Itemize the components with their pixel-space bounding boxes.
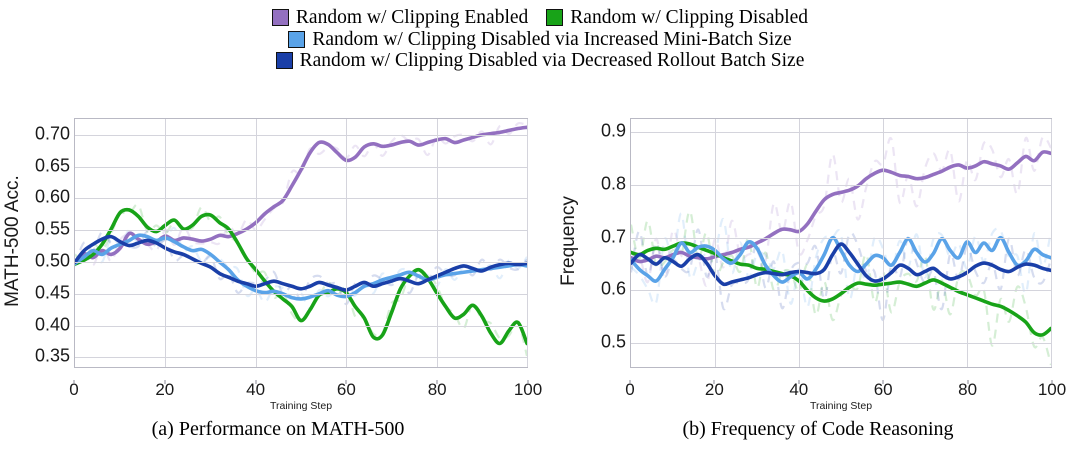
legend-swatch-clip-enabled bbox=[272, 9, 289, 26]
series-line-a-clip_disabled_rollout bbox=[75, 237, 527, 290]
x-tickmark-b-3 bbox=[883, 380, 884, 384]
gridline-x-b-3 bbox=[883, 119, 884, 367]
plot-lines-b bbox=[631, 119, 1051, 367]
y-tick-b-3: 0.8 bbox=[601, 173, 626, 194]
chart-panel-a: MATH-500 Acc. 0.350.400.450.500.550.600.… bbox=[0, 112, 556, 380]
caption-a: (a) Performance on MATH-500 bbox=[0, 418, 556, 441]
x-tickmark-b-1 bbox=[714, 380, 715, 384]
caption-b: (b) Frequency of Code Reasoning bbox=[556, 418, 1080, 441]
y-axis-label-a: MATH-500 Acc. bbox=[0, 112, 26, 370]
raw-trace-a-clip_disabled bbox=[75, 204, 527, 356]
gridline-y-a-3 bbox=[75, 262, 527, 263]
legend-entry-clip-enabled: Random w/ Clipping Enabled bbox=[272, 8, 528, 28]
y-axis-label-a-text: MATH-500 Acc. bbox=[2, 175, 24, 307]
raw-trace-b-clip_disabled bbox=[631, 211, 1051, 365]
gridline-y-b-0 bbox=[631, 343, 1051, 344]
legend-label-clip-enabled: Random w/ Clipping Enabled bbox=[296, 8, 528, 28]
y-tick-labels-b: 0.50.60.70.80.9 bbox=[582, 112, 630, 374]
legend-entry-clip-disabled-minibatch: Random w/ Clipping Disabled via Increase… bbox=[288, 30, 791, 50]
y-tick-b-4: 0.9 bbox=[601, 121, 626, 142]
gridline-y-a-6 bbox=[75, 167, 527, 168]
gridline-x-b-1 bbox=[715, 119, 716, 367]
y-tick-a-3: 0.50 bbox=[35, 251, 70, 272]
legend-entry-clip-disabled: Random w/ Clipping Disabled bbox=[546, 8, 808, 28]
y-tick-a-7: 0.70 bbox=[35, 123, 70, 144]
legend-row-3: Random w/ Clipping Disabled via Decrease… bbox=[276, 51, 805, 71]
legend-label-clip-disabled: Random w/ Clipping Disabled bbox=[570, 8, 808, 28]
gridline-x-b-5 bbox=[1051, 119, 1052, 367]
y-tick-b-0: 0.5 bbox=[601, 332, 626, 353]
legend-label-clip-disabled-minibatch: Random w/ Clipping Disabled via Increase… bbox=[312, 30, 791, 50]
x-axis-label-b: Training Step bbox=[630, 400, 1052, 412]
x-tickmark-a-5 bbox=[528, 380, 529, 384]
axes-b: 0.50.60.70.80.9 020406080100 Training St… bbox=[582, 112, 1052, 374]
x-tick-labels-b: 020406080100 bbox=[630, 380, 1052, 400]
x-tickmark-b-2 bbox=[798, 380, 799, 384]
y-axis-label-b: Frequency bbox=[556, 112, 582, 370]
x-tick-labels-a: 020406080100 bbox=[74, 380, 528, 400]
y-tick-a-2: 0.45 bbox=[35, 282, 70, 303]
gridline-x-a-1 bbox=[165, 119, 166, 367]
y-tick-labels-a: 0.350.400.450.500.550.600.650.70 bbox=[26, 112, 74, 374]
gridline-y-a-7 bbox=[75, 135, 527, 136]
legend-entry-clip-disabled-rollout: Random w/ Clipping Disabled via Decrease… bbox=[276, 51, 805, 71]
legend: Random w/ Clipping Enabled Random w/ Cli… bbox=[0, 8, 1080, 71]
y-tick-a-6: 0.65 bbox=[35, 155, 70, 176]
gridline-x-a-4 bbox=[437, 119, 438, 367]
gridline-x-a-3 bbox=[346, 119, 347, 367]
gridline-x-a-2 bbox=[256, 119, 257, 367]
gridline-y-a-4 bbox=[75, 230, 527, 231]
gridline-y-a-0 bbox=[75, 357, 527, 358]
gridline-x-a-5 bbox=[527, 119, 528, 367]
y-tick-a-1: 0.40 bbox=[35, 314, 70, 335]
x-axis-label-a: Training Step bbox=[74, 400, 528, 412]
gridline-y-b-4 bbox=[631, 132, 1051, 133]
legend-row-2: Random w/ Clipping Disabled via Increase… bbox=[288, 30, 791, 50]
legend-row-1: Random w/ Clipping Enabled Random w/ Cli… bbox=[272, 8, 808, 28]
chart-panel-b: Frequency 0.50.60.70.80.9 020406080100 T… bbox=[556, 112, 1080, 380]
plot-frame-b bbox=[630, 118, 1052, 368]
gridline-y-a-1 bbox=[75, 326, 527, 327]
x-tickmark-b-5 bbox=[1052, 380, 1053, 384]
legend-swatch-clip-disabled-minibatch bbox=[288, 31, 305, 48]
x-tickmark-a-3 bbox=[346, 380, 347, 384]
plot-lines-a bbox=[75, 119, 527, 367]
plot-area-a: MATH-500 Acc. 0.350.400.450.500.550.600.… bbox=[0, 112, 556, 380]
legend-label-clip-disabled-rollout: Random w/ Clipping Disabled via Decrease… bbox=[300, 51, 805, 71]
gridline-y-b-1 bbox=[631, 290, 1051, 291]
y-tick-a-5: 0.60 bbox=[35, 187, 70, 208]
gridline-x-b-2 bbox=[799, 119, 800, 367]
axes-a: 0.350.400.450.500.550.600.650.70 0204060… bbox=[26, 112, 528, 374]
gridline-y-a-2 bbox=[75, 294, 527, 295]
gridline-y-b-3 bbox=[631, 185, 1051, 186]
x-tickmark-b-0 bbox=[630, 380, 631, 384]
legend-swatch-clip-disabled-rollout bbox=[276, 52, 293, 69]
gridline-x-b-4 bbox=[967, 119, 968, 367]
x-tickmark-a-0 bbox=[74, 380, 75, 384]
gridline-y-a-5 bbox=[75, 198, 527, 199]
x-tickmark-a-1 bbox=[164, 380, 165, 384]
x-tickmark-a-4 bbox=[437, 380, 438, 384]
y-tick-b-2: 0.7 bbox=[601, 226, 626, 247]
figure-root: Random w/ Clipping Enabled Random w/ Cli… bbox=[0, 0, 1080, 453]
legend-swatch-clip-disabled bbox=[546, 9, 563, 26]
x-tickmark-a-2 bbox=[255, 380, 256, 384]
x-tickmark-b-4 bbox=[967, 380, 968, 384]
y-tick-b-1: 0.6 bbox=[601, 279, 626, 300]
y-tick-a-4: 0.55 bbox=[35, 219, 70, 240]
gridline-y-b-2 bbox=[631, 238, 1051, 239]
y-axis-label-b-text: Frequency bbox=[558, 196, 580, 286]
plot-frame-a bbox=[74, 118, 528, 368]
y-tick-a-0: 0.35 bbox=[35, 346, 70, 367]
plot-area-b: Frequency 0.50.60.70.80.9 020406080100 T… bbox=[556, 112, 1080, 380]
